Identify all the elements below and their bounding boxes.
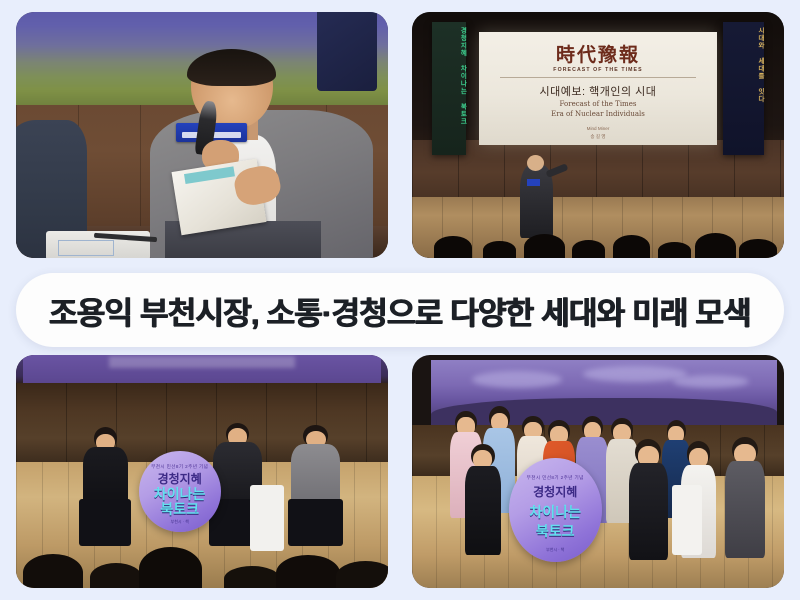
photo-bottom-left[interactable]: 부천시 민선8기 2주년 기념 경청지혜 차이나는 북토크 부천시 · 책 [16, 355, 388, 588]
vertical-banner-right: 시대와 세대를 잇다 [723, 22, 764, 155]
slide-english-line-1: Forecast of the Times [479, 100, 717, 108]
side-panel [317, 12, 377, 91]
music-stand [672, 485, 702, 555]
logo-line-1: 경청지혜 [509, 486, 602, 498]
group-member [724, 437, 765, 558]
group-member [628, 439, 669, 560]
slide-author-english: Mind Miner [479, 126, 717, 131]
photo-top-left-content [16, 12, 388, 258]
photo-top-left[interactable] [16, 12, 388, 258]
chair-right [288, 499, 344, 546]
headline-title: 조용익 부천시장, 소통·경청으로 다양한 세대와 미래 모색 [49, 288, 751, 333]
logo-top-text: 부천시 민선8기 2주년 기념 [139, 464, 221, 470]
photo-bottom-right-content: 부천시 민선8기 2주년 기념 경청지혜 차이나는 북토크 부천시 · 책 [412, 355, 784, 588]
headline-banner: 조용익 부천시장, 소통·경청으로 다양한 세대와 미래 모색 [16, 273, 784, 347]
slide-korean-title: 시대예보: 핵개인의 시대 [479, 83, 717, 99]
vertical-banner-right-text: 시대와 세대를 잇다 [723, 27, 764, 136]
speaker-head [527, 155, 544, 171]
slide-hanja-title: 時代豫報 [479, 46, 717, 65]
event-circle-logo: 부천시 민선8기 2주년 기념 경청지혜 차이나는 북토크 부천시 · 책 [139, 451, 221, 533]
vertical-banner-left: 경청지혜 차이나는 북토크 [432, 22, 465, 155]
chair-left [79, 499, 131, 546]
projection-screen [23, 355, 380, 383]
speaker-name-tag [527, 179, 540, 185]
logo-line-2: 차이나는 [139, 487, 221, 501]
photo-top-right[interactable]: 時代豫報 FORECAST OF THE TIMES 시대예보: 핵개인의 시대… [412, 12, 784, 258]
presentation-slide: 時代豫報 FORECAST OF THE TIMES 시대예보: 핵개인의 시대… [479, 32, 717, 145]
vertical-banner-left-text: 경청지혜 차이나는 북토크 [432, 27, 465, 136]
photo-collage: 時代豫報 FORECAST OF THE TIMES 시대예보: 핵개인의 시대… [0, 0, 800, 600]
logo-bottom-text: 부천시 · 책 [139, 519, 221, 525]
photo-top-right-content: 時代豫報 FORECAST OF THE TIMES 시대예보: 핵개인의 시대… [412, 12, 784, 258]
logo-top-text: 부천시 민선8기 2주년 기념 [509, 475, 602, 481]
logo-line-1: 경청지혜 [139, 473, 221, 485]
photo-bottom-right[interactable]: 부천시 민선8기 2주년 기념 경청지혜 차이나는 북토크 부천시 · 책 [412, 355, 784, 588]
audience-silhouettes [412, 228, 784, 258]
logo-line-3: 북토크 [139, 502, 221, 516]
logo-bottom-text: 부천시 · 책 [509, 547, 602, 553]
logo-line-2: 차이나는 [509, 505, 602, 519]
slide-divider [500, 77, 695, 78]
slide-english-line-2: Era of Nuclear Individuals [479, 110, 717, 118]
slide-english-subtitle: FORECAST OF THE TIMES [479, 67, 717, 73]
group-member [464, 444, 501, 556]
event-circle-logo: 부천시 민선8기 2주년 기념 경청지혜 차이나는 북토크 부천시 · 책 [509, 458, 602, 563]
slide-author-korean: 송 길 영 [479, 134, 717, 140]
logo-line-3: 북토크 [509, 524, 602, 538]
photo-bottom-left-content: 부천시 민선8기 2주년 기념 경청지혜 차이나는 북토크 부천시 · 책 [16, 355, 388, 588]
audience-silhouettes [16, 541, 388, 588]
